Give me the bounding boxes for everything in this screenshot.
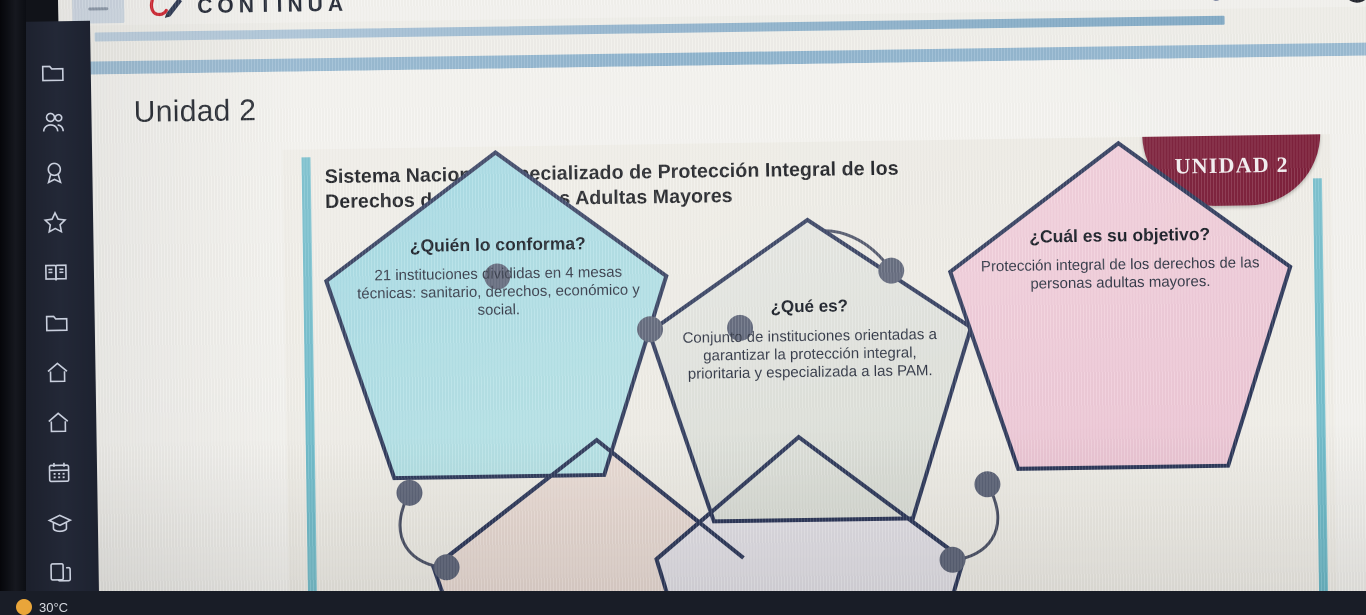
pentagon-objetivo-body: Protección integral de los derechos de l… (974, 255, 1267, 295)
os-taskbar: 30°C (0, 591, 1366, 615)
pentagon-diagram: ¿Quién lo conforma? 21 instituciones div… (282, 134, 1337, 615)
sidebar-item-calendario[interactable] (21, 447, 98, 498)
pentagon-quien-heading: ¿Quién lo conforma? (348, 232, 648, 257)
app-window: CONTINUA (58, 0, 1366, 615)
pentagon-quien-text: ¿Quién lo conforma? 21 instituciones div… (348, 232, 649, 322)
sun-icon (16, 599, 32, 615)
pentagon-quees-heading: ¿Qué es? (677, 295, 942, 319)
taskbar-weather[interactable]: 30°C (16, 599, 68, 615)
sidebar-item-logros[interactable] (16, 147, 93, 198)
topbar-actions (1206, 0, 1366, 5)
chat-bubble-icon[interactable] (1252, 0, 1272, 1)
sidebar-item-cursos[interactable] (21, 497, 98, 548)
weather-temperature: 30°C (39, 600, 68, 615)
monitor-bezel (0, 0, 26, 615)
sidebar-item-favoritos[interactable] (17, 197, 94, 248)
sidebar-item-carpeta[interactable] (18, 297, 95, 348)
page-title: Unidad 2 (134, 94, 257, 130)
brand-logo[interactable]: CONTINUA (148, 0, 348, 21)
pentagon-objetivo-heading: ¿Cuál es su objetivo? (974, 223, 1266, 248)
sidebar-item-inicio-1[interactable] (19, 347, 96, 398)
sidebar-item-inicio-2[interactable] (20, 397, 97, 448)
pentagon-quees-body: Conjunto de instituciones orientadas a g… (677, 326, 943, 384)
pentagon-quien-body: 21 instituciones divididas en 4 mesas té… (348, 264, 649, 322)
continua-mark-icon (148, 0, 188, 21)
user-avatar[interactable] (1344, 0, 1366, 3)
pentagon-quees-text: ¿Qué es? Conjunto de instituciones orien… (677, 295, 943, 384)
pentagon-objetivo-text: ¿Cuál es su objetivo? Protección integra… (974, 223, 1267, 295)
globe-icon[interactable] (1206, 0, 1226, 2)
pentagon-objetivo (948, 141, 1293, 470)
sidebar-item-biblioteca[interactable] (18, 247, 95, 298)
minus-icon (88, 7, 108, 10)
brand-name: CONTINUA (197, 0, 348, 19)
bell-icon[interactable] (1298, 0, 1318, 1)
content-card: Unidad 2 Sistema Nacional Especializado … (81, 55, 1366, 615)
app-sidebar (14, 21, 99, 594)
sidebar-item-usuarios[interactable] (15, 97, 92, 148)
photographed-screen: CONTINUA (0, 0, 1366, 615)
slide-image: Sistema Nacional Especializado de Protec… (282, 134, 1337, 615)
